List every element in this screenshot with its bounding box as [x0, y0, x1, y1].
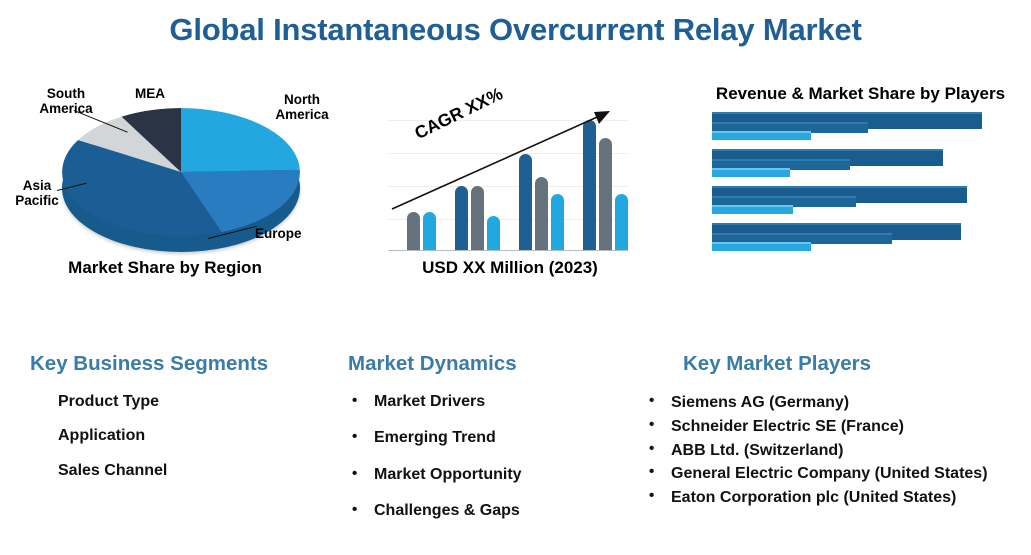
infographic-page: Global Instantaneous Overcurrent Relay M… — [0, 0, 1031, 555]
players-bar-segment-share — [712, 242, 811, 251]
key-market-players-list: Siemens AG (Germany) Schneider Electric … — [645, 392, 1031, 509]
players-bar-segment-share — [712, 205, 793, 214]
column-bar — [599, 138, 612, 250]
key-market-players-column: Key Market Players Siemens AG (Germany) … — [645, 352, 1031, 511]
list-item: Market Opportunity — [348, 465, 648, 485]
players-bar-row — [712, 223, 1012, 260]
column-bar — [615, 194, 628, 250]
list-item: Challenges & Gaps — [348, 501, 648, 521]
list-item: Product Type — [58, 392, 328, 412]
column-bar — [471, 186, 484, 250]
list-item: Siemens AG (Germany) — [645, 392, 1031, 414]
key-business-segments-heading: Key Business Segments — [30, 352, 328, 376]
players-bar-row — [712, 149, 1012, 186]
column-bar — [407, 212, 420, 250]
pie-label-asia-pacific: AsiaPacific — [6, 178, 68, 208]
list-item: Schneider Electric SE (France) — [645, 416, 1031, 438]
column-chart-baseline — [388, 250, 628, 252]
column-bar — [455, 186, 468, 250]
players-bar-segment-share — [712, 168, 790, 177]
pie-label-south-america: SouthAmerica — [26, 86, 106, 116]
column-bar — [423, 212, 436, 250]
column-chart-caption: USD XX Million (2023) — [370, 258, 650, 278]
column-bar — [487, 216, 500, 250]
list-item: Application — [58, 426, 328, 446]
list-item: Sales Channel — [58, 461, 328, 481]
market-dynamics-list: Market Drivers Emerging Trend Market Opp… — [348, 392, 648, 522]
list-item: Market Drivers — [348, 392, 648, 412]
key-market-players-heading: Key Market Players — [683, 352, 1031, 376]
list-item: General Electric Company (United States) — [645, 463, 1031, 485]
page-title: Global Instantaneous Overcurrent Relay M… — [0, 12, 1031, 48]
key-business-segments-column: Key Business Segments Product Type Appli… — [28, 352, 328, 495]
list-item: ABB Ltd. (Switzerland) — [645, 440, 1031, 462]
cagr-label: CAGR XX% — [411, 83, 506, 144]
list-item: Emerging Trend — [348, 428, 648, 448]
list-item: Eaton Corporation plc (United States) — [645, 487, 1031, 509]
pie-chart-caption: Market Share by Region — [0, 258, 330, 278]
market-dynamics-heading: Market Dynamics — [348, 352, 648, 376]
pie-label-mea: MEA — [122, 86, 178, 101]
pie-label-north-america: NorthAmerica — [262, 92, 342, 122]
pie-face — [62, 108, 300, 236]
players-bar-chart-title: Revenue & Market Share by Players — [690, 84, 1031, 104]
column-bar — [519, 154, 532, 250]
players-bar-chart-panel: Revenue & Market Share by Players — [690, 78, 1031, 268]
market-dynamics-column: Market Dynamics Market Drivers Emerging … — [348, 352, 648, 538]
column-bar — [583, 120, 596, 250]
pie-label-europe: Europe — [255, 226, 327, 241]
players-bar-row — [712, 112, 1012, 149]
column-bar — [551, 194, 564, 250]
players-bar-rows — [712, 112, 1012, 260]
players-bar-segment-share — [712, 131, 811, 140]
column-chart-plot: CAGR XX% — [388, 106, 628, 251]
players-bar-row — [712, 186, 1012, 223]
key-business-segments-list: Product Type Application Sales Channel — [28, 392, 328, 481]
column-bar — [535, 177, 548, 250]
